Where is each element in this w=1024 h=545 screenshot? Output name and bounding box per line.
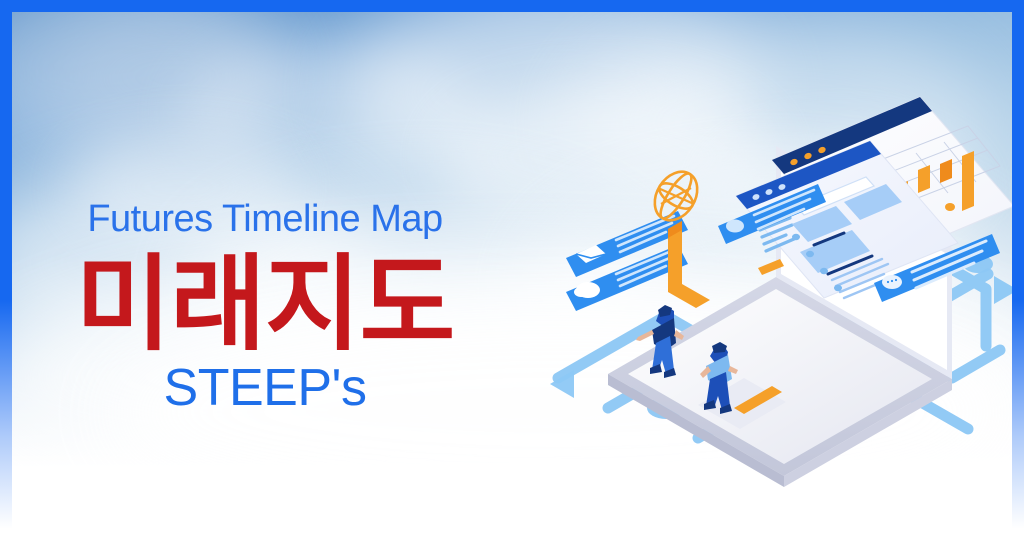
- headline-block: Futures Timeline Map 미래지도 STEEP's: [0, 200, 530, 414]
- cloud-icon: [574, 282, 600, 298]
- page-title-hangul: 미래지도: [0, 252, 530, 356]
- chat-bubble-icon: [726, 220, 744, 233]
- isometric-digital-workspace-illustration: [548, 78, 1018, 478]
- futures-timeline-map-banner: Futures Timeline Map 미래지도 STEEP's: [0, 0, 1024, 545]
- chart-marker-dot: [945, 203, 955, 211]
- subtitle-steeps: STEEP's: [0, 362, 530, 414]
- globe-icon: [646, 164, 706, 228]
- kicker-text: Futures Timeline Map: [0, 200, 530, 238]
